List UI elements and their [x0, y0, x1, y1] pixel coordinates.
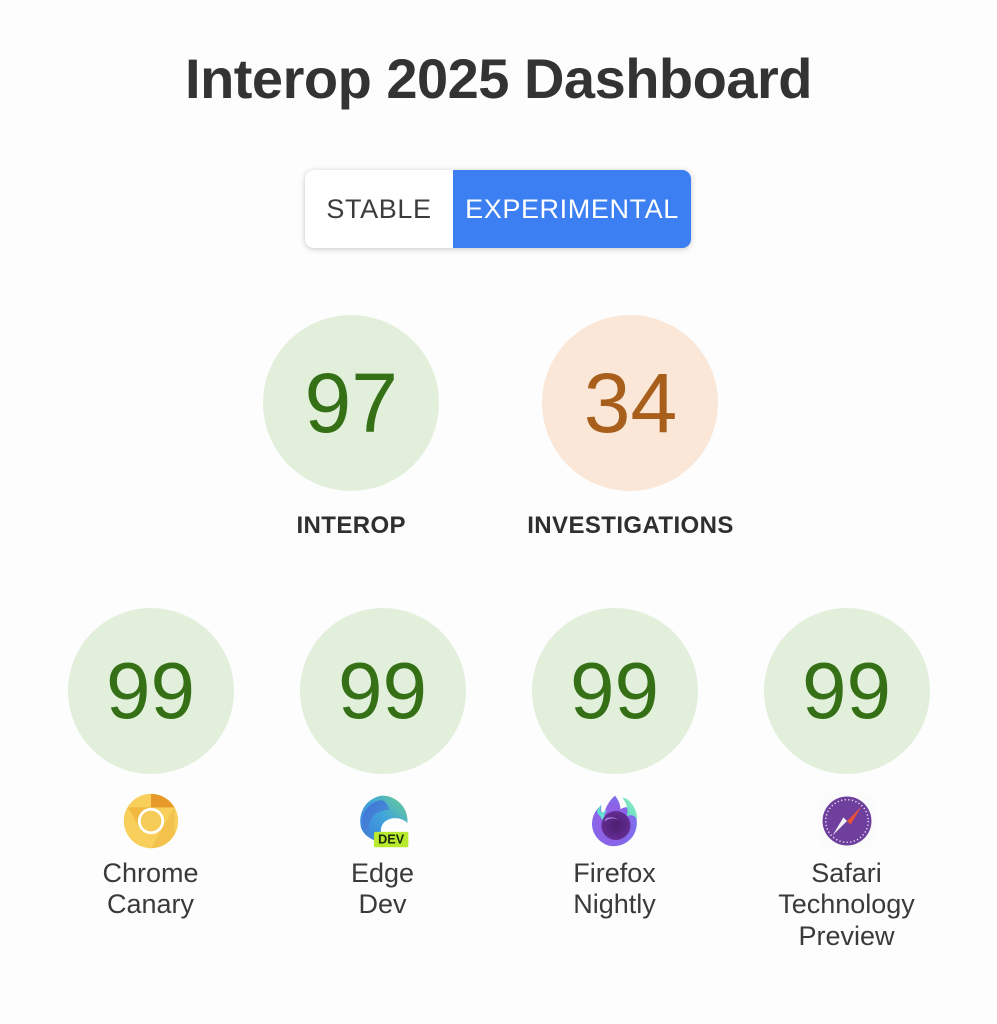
firefox-nightly-icon	[586, 792, 644, 850]
summary-item-interop[interactable]: 97 INTEROP	[263, 315, 439, 540]
chrome-canary-label: Chrome Canary	[102, 858, 198, 921]
toggle-experimental[interactable]: EXPERIMENTAL	[453, 170, 691, 248]
channel-toggle[interactable]: STABLE EXPERIMENTAL	[305, 170, 691, 248]
interop-score-circle: 97	[263, 315, 439, 491]
investigations-score-label: INVESTIGATIONS	[527, 512, 734, 540]
chrome-canary-icon	[122, 792, 180, 850]
page-title: Interop 2025 Dashboard	[0, 48, 997, 110]
browser-scores: 99 Chrome Canary 99	[0, 608, 997, 952]
browser-item-firefox-nightly[interactable]: 99	[532, 608, 698, 952]
safari-tp-score-circle: 99	[764, 608, 930, 774]
browser-item-safari-technology-preview[interactable]: 99 Safari Technology Preview	[764, 608, 930, 952]
edge-dev-icon: DEV	[354, 792, 412, 850]
browser-item-edge-dev[interactable]: 99 DEV Edge Dev	[300, 608, 466, 952]
svg-text:DEV: DEV	[378, 833, 405, 847]
firefox-nightly-score-circle: 99	[532, 608, 698, 774]
safari-tp-label: Safari Technology Preview	[778, 858, 915, 952]
toggle-stable[interactable]: STABLE	[305, 170, 453, 248]
investigations-score-circle: 34	[542, 315, 718, 491]
firefox-nightly-label: Firefox Nightly	[573, 858, 656, 921]
interop-score-label: INTEROP	[296, 512, 405, 540]
browser-item-chrome-canary[interactable]: 99 Chrome Canary	[68, 608, 234, 952]
edge-dev-label: Edge Dev	[351, 858, 414, 921]
summary-scores: 97 INTEROP 34 INVESTIGATIONS	[0, 315, 997, 540]
summary-item-investigations[interactable]: 34 INVESTIGATIONS	[527, 315, 734, 540]
edge-dev-score-circle: 99	[300, 608, 466, 774]
chrome-canary-score-circle: 99	[68, 608, 234, 774]
safari-technology-preview-icon	[818, 792, 876, 850]
